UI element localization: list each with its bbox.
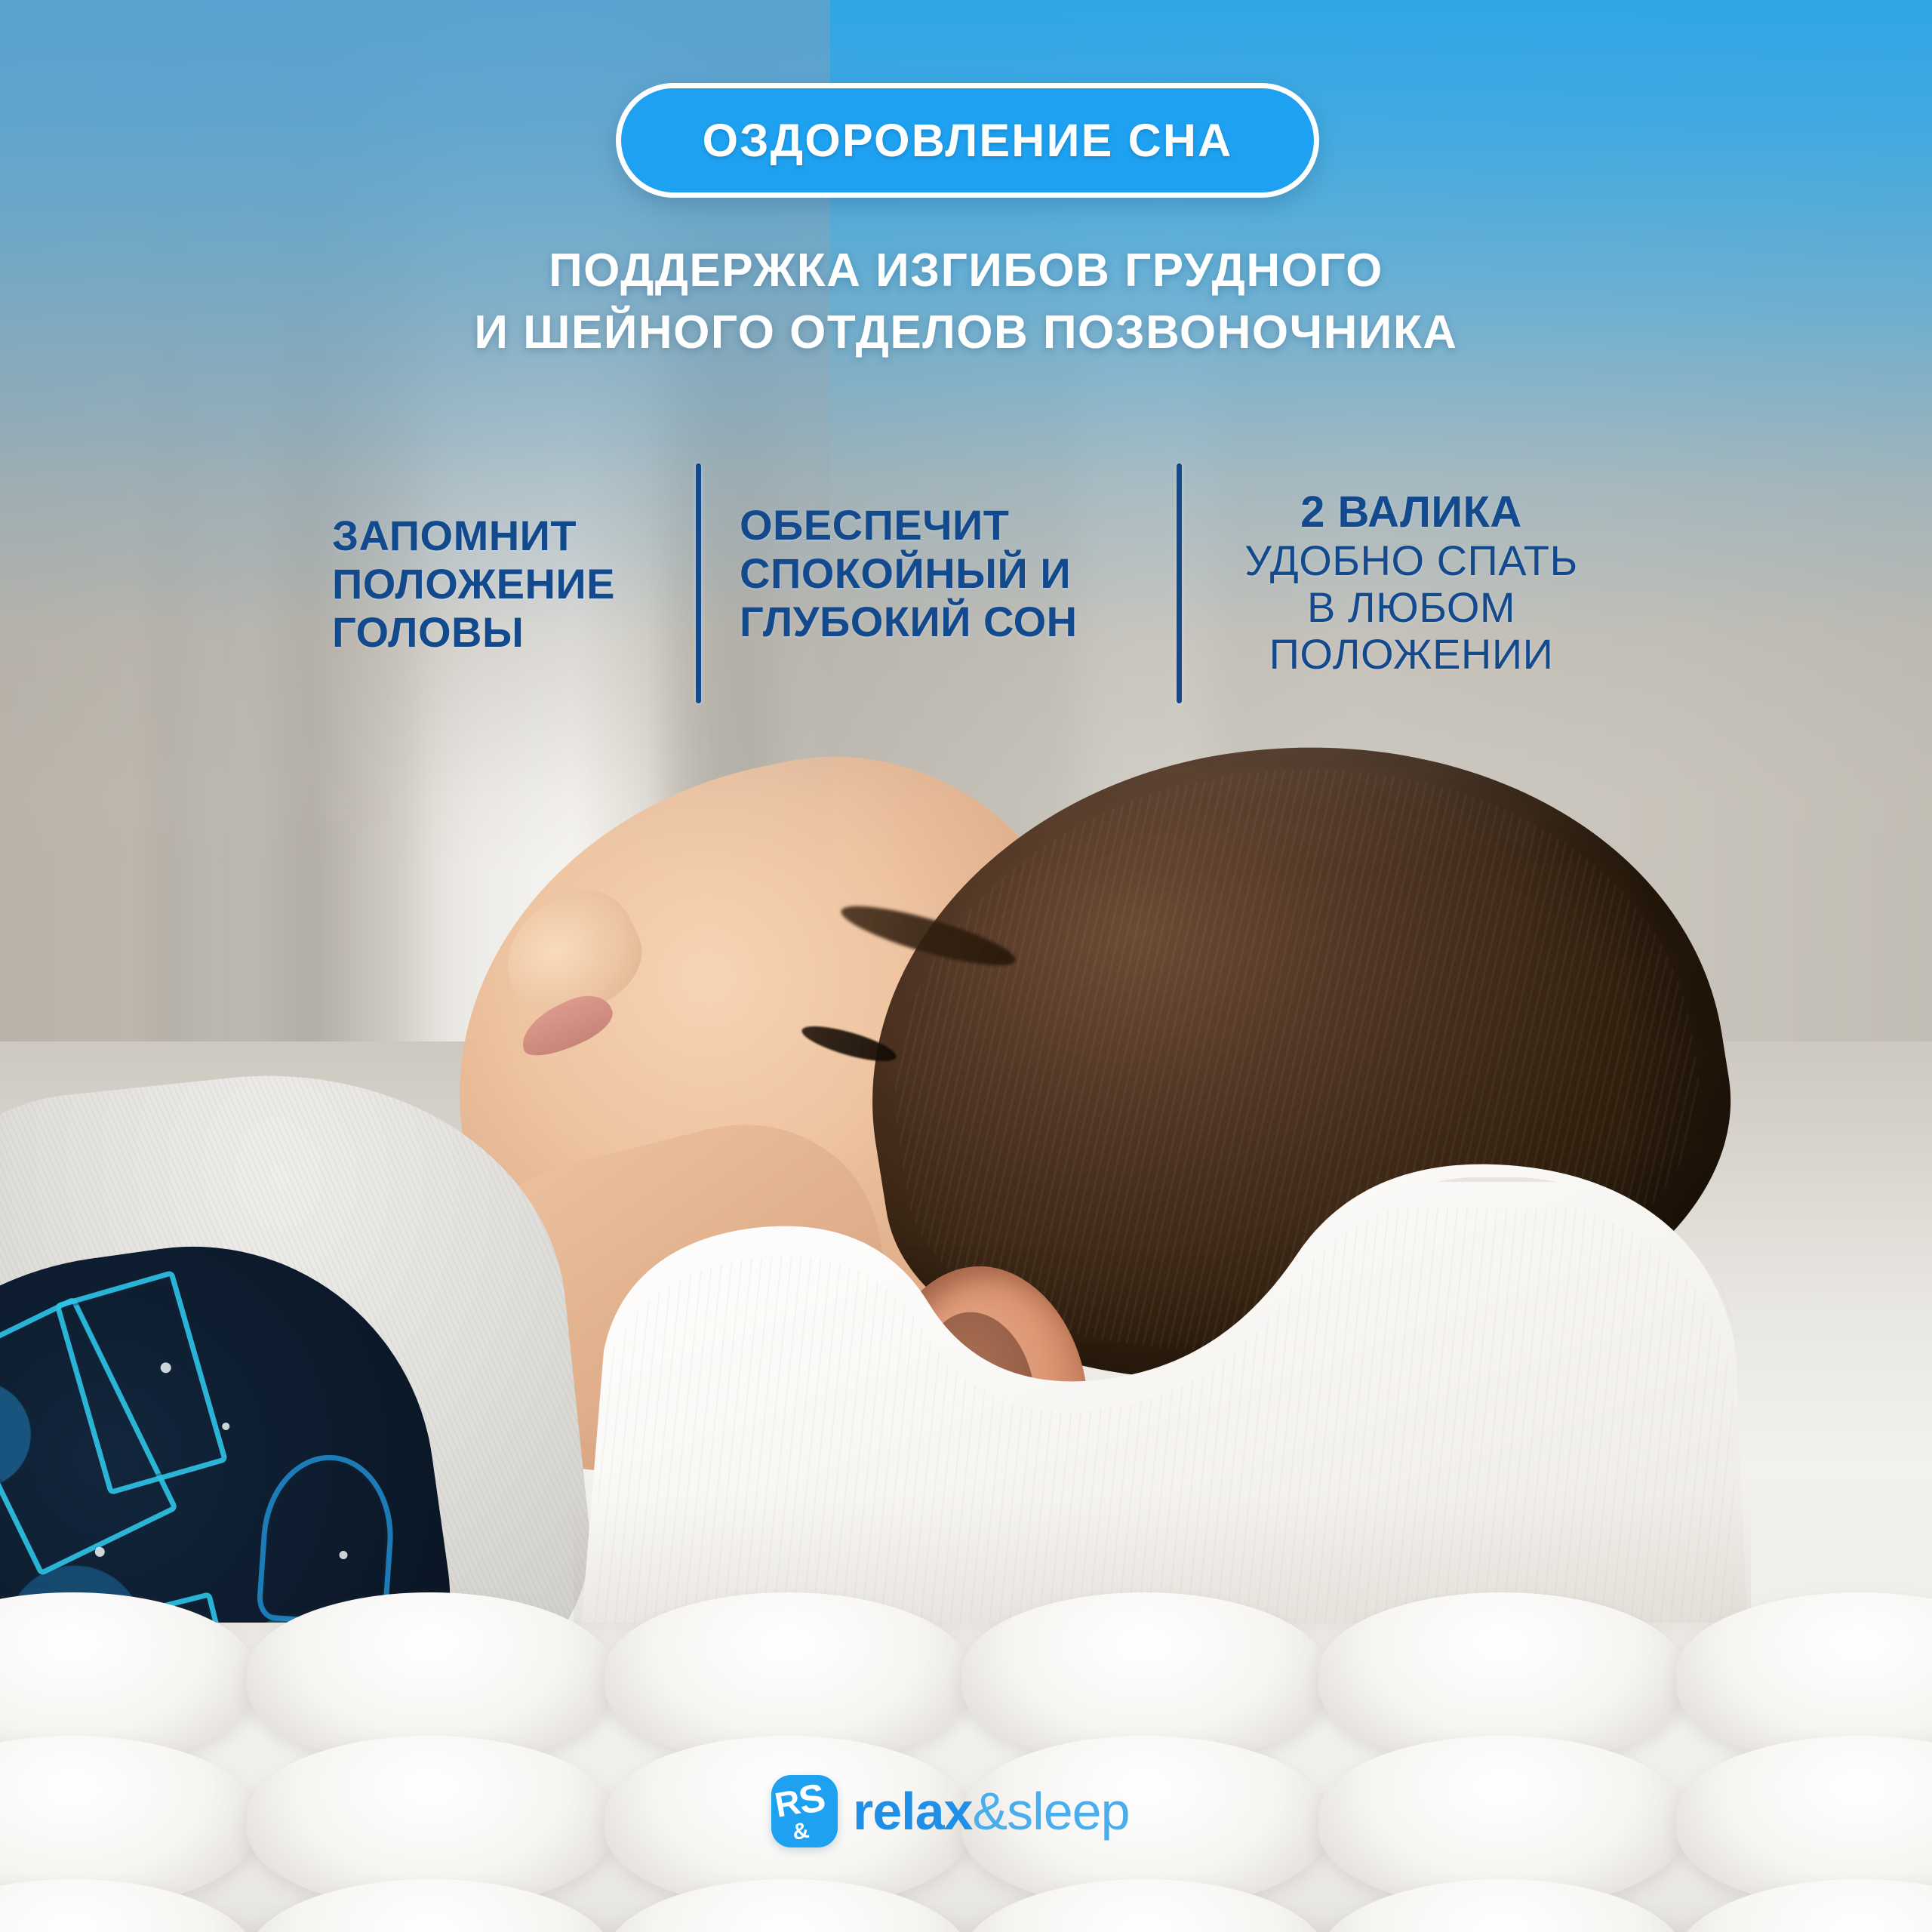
feature-divider-1 [696, 463, 701, 703]
mattress-quilt-row [0, 1879, 1932, 1932]
feature-line: ЗАПОМНИТ [332, 512, 672, 560]
brand-word-relax: relax [853, 1781, 972, 1841]
feature-line: ГЛУБОКИЙ СОН [740, 598, 1147, 646]
subtitle-line-2: И ШЕЙНОГО ОТДЕЛОВ ПОЗВОНОЧНИКА [0, 302, 1932, 364]
feature-divider-2 [1177, 463, 1182, 703]
feature-row: ЗАПОМНИТ ПОЛОЖЕНИЕ ГОЛОВЫ ОБЕСПЕЧИТ СПОК… [0, 453, 1932, 724]
feature-column-deep-sleep: ОБЕСПЕЧИТ СПОКОЙНЫЙ И ГЛУБОКИЙ СОН [740, 453, 1147, 646]
feature-line: УДОБНО СПАТЬ [1200, 537, 1623, 584]
headline-badge-label: ОЗДОРОВЛЕНИЕ СНА [703, 114, 1233, 167]
feature-line: В ЛЮБОМ [1200, 584, 1623, 631]
brand-wordmark: relax &sleep [853, 1781, 1130, 1841]
feature-column-two-bolsters: 2 ВАЛИКА УДОБНО СПАТЬ В ЛЮБОМ ПОЛОЖЕНИИ [1200, 453, 1623, 678]
headline-badge: ОЗДОРОВЛЕНИЕ СНА [616, 83, 1319, 198]
quilt-cell [961, 1879, 1327, 1932]
subtitle-line-1: ПОДДЕРЖКА ИЗГИБОВ ГРУДНОГО [0, 240, 1932, 302]
feature-line: ОБЕСПЕЧИТ [740, 501, 1147, 549]
feature-line: ГОЛОВЫ [332, 608, 672, 657]
feature-column-memory-position: ЗАПОМНИТ ПОЛОЖЕНИЕ ГОЛОВЫ [332, 453, 672, 657]
subtitle: ПОДДЕРЖКА ИЗГИБОВ ГРУДНОГО И ШЕЙНОГО ОТД… [0, 240, 1932, 364]
brand-logo: R S & relax &sleep [771, 1775, 1130, 1847]
feature-line: СПОКОЙНЫЙ И [740, 549, 1147, 598]
quilt-cell [0, 1879, 256, 1932]
quilt-cell [247, 1879, 613, 1932]
feature-line: ПОЛОЖЕНИЕ [332, 560, 672, 608]
brand-word-sleep: &sleep [972, 1781, 1129, 1841]
feature-line: ПОЛОЖЕНИИ [1200, 631, 1623, 678]
rs-monogram-icon: R S & [771, 1775, 838, 1847]
quilt-cell [1676, 1879, 1932, 1932]
quilt-cell [1318, 1879, 1684, 1932]
promo-banner: ОЗДОРОВЛЕНИЕ СНА ПОДДЕРЖКА ИЗГИБОВ ГРУДН… [0, 0, 1932, 1932]
quilt-cell [605, 1879, 971, 1932]
feature-headline: 2 ВАЛИКА [1200, 488, 1623, 537]
